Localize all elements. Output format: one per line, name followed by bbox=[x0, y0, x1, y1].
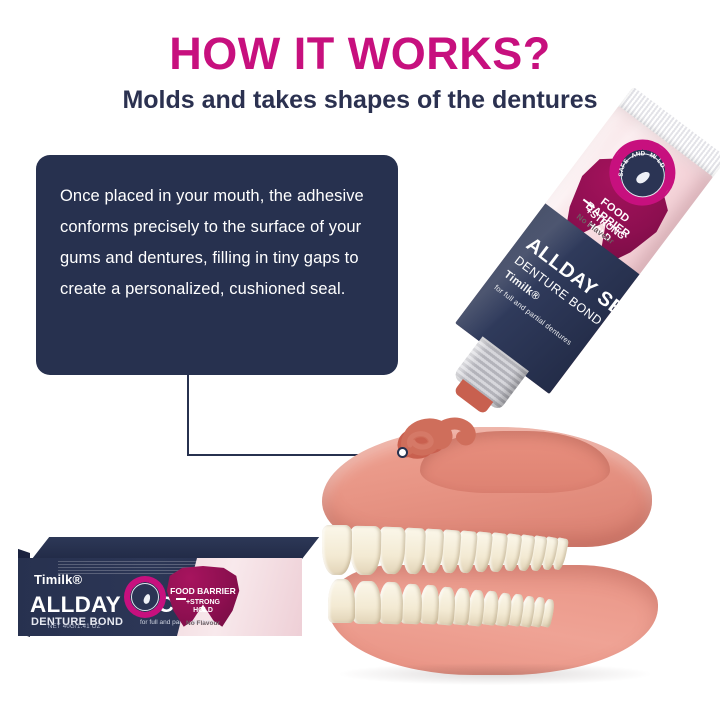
carton-claim-line2: HOLD bbox=[193, 607, 213, 614]
carton-top-face bbox=[32, 537, 319, 559]
seal-char: S bbox=[618, 172, 625, 177]
carton-food-barrier-badge: FOOD BARRIER +STRONG HOLD bbox=[166, 566, 240, 628]
tooth bbox=[400, 583, 423, 624]
tooth bbox=[353, 580, 382, 623]
carton-flavour-label: No Flavour bbox=[161, 620, 245, 627]
carton-brand: Timilk® bbox=[34, 572, 82, 587]
tooth bbox=[322, 525, 352, 575]
droplet-icon bbox=[143, 593, 152, 604]
seal-char: D bbox=[641, 150, 646, 157]
dentures-shadow bbox=[340, 663, 650, 685]
adhesive-squiggle bbox=[396, 397, 516, 463]
tube-brand: Timilk® bbox=[502, 268, 543, 303]
carton-front-face: Timilk® ALLDAY SECURE DENTURE BOND for f… bbox=[18, 558, 302, 636]
page-title: HOW IT WORKS? bbox=[0, 28, 720, 80]
tooth bbox=[378, 582, 403, 624]
product-tube: FOOD BARRIER +STRONG HOLD No Flavour ALL… bbox=[430, 95, 720, 425]
tooth bbox=[350, 526, 382, 575]
carton-claim-food-barrier: FOOD BARRIER bbox=[166, 586, 240, 596]
lower-teeth-row bbox=[324, 565, 654, 625]
seal-char: D bbox=[658, 162, 666, 169]
tooth bbox=[328, 579, 355, 623]
dentures-illustration bbox=[300, 415, 680, 690]
carton-claim-line1: +STRONG bbox=[186, 599, 220, 606]
tooth-icon bbox=[166, 566, 240, 628]
infographic-canvas: HOW IT WORKS? Molds and takes shapes of … bbox=[0, 0, 720, 720]
tube-descriptor: for full and partial dentures bbox=[493, 283, 574, 347]
callout-card: Once placed in your mouth, the adhesive … bbox=[36, 155, 398, 375]
carton-net-weight: NET 40G/1.41 OZ bbox=[48, 624, 101, 630]
tube-product-type: DENTURE BOND bbox=[512, 253, 605, 328]
connector-endpoint-dot bbox=[397, 447, 408, 458]
carton-claim-strong-hold: +STRONG HOLD bbox=[166, 599, 240, 615]
connector-line-vertical bbox=[187, 375, 189, 455]
product-carton: Timilk® ALLDAY SECURE DENTURE BOND for f… bbox=[18, 537, 308, 642]
seal-inner-disc bbox=[131, 583, 159, 611]
callout-body-text: Once placed in your mouth, the adhesive … bbox=[60, 181, 374, 305]
carton-safe-and-mild-seal bbox=[124, 576, 166, 618]
tube-product-name: ALLDAY SECURE bbox=[521, 233, 675, 357]
